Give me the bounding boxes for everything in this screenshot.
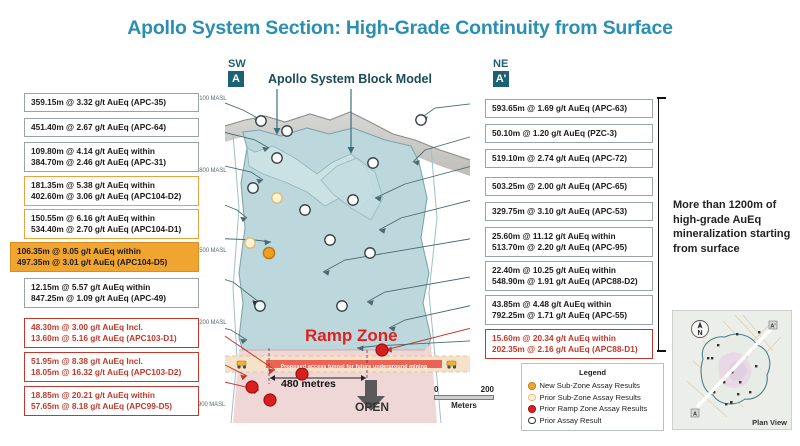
callout-apc-31[interactable]: 109.80m @ 4.14 g/t AuEq within384.70m @ …: [24, 142, 199, 172]
ne-label: NE: [493, 58, 508, 70]
scale-unit: Meters: [434, 401, 494, 410]
legend-dot-prior-assay: [528, 417, 536, 425]
plan-marker-a: A: [691, 409, 699, 418]
assay-marker-prior: [272, 153, 282, 163]
callout-apc-65[interactable]: 503.25m @ 2.00 g/t AuEq (APC-65): [485, 177, 653, 196]
assay-marker-prior: [300, 205, 310, 215]
legend-item-new-subzone: New Sub-Zone Assay Results: [528, 380, 657, 392]
elevation-label-900: 900 MASL: [198, 402, 225, 408]
callout-apc-63[interactable]: 593.65m @ 1.69 g/t AuEq (APC-63): [485, 99, 653, 118]
assay-marker-prior: [255, 301, 265, 311]
callout-apc-64[interactable]: 451.40m @ 2.67 g/t AuEq (APC-64): [24, 118, 199, 137]
svg-text:A': A': [770, 324, 776, 330]
plan-compass-icon: N: [692, 321, 709, 338]
distance-label: 480 metres: [281, 378, 336, 390]
assay-marker-prior: [282, 126, 292, 136]
tunnel-label: Proposed access tunnel for future underg…: [266, 364, 442, 370]
callout-pzc-3[interactable]: 50.10m @ 1.20 g/t AuEq (PZC-3): [485, 124, 653, 143]
callout-apc103-d1[interactable]: 48.30m @ 3.00 g/t AuEq Incl.13.60m @ 5.1…: [24, 318, 199, 348]
callout-apc-95[interactable]: 25.60m @ 11.12 g/t AuEq within513.70m @ …: [485, 227, 653, 257]
assay-marker-prior: [337, 301, 347, 311]
svg-text:A: A: [693, 412, 697, 418]
plan-marker-a-prime: A': [769, 321, 777, 330]
callout-apc88-d1[interactable]: 15.60m @ 20.34 g/t AuEq within202.35m @ …: [485, 329, 653, 359]
plan-view-inset[interactable]: N A' A Plan View: [672, 310, 792, 430]
assay-marker-prior: [248, 183, 258, 193]
callout-apc99-d5[interactable]: 18.85m @ 20.21 g/t AuEq within57.65m @ 8…: [24, 386, 199, 416]
block-model-label: Apollo System Block Model: [268, 72, 432, 86]
assay-marker-prior: [325, 235, 335, 245]
callout-apc88-d2[interactable]: 22.40m @ 10.25 g/t AuEq within548.90m @ …: [485, 261, 653, 291]
callout-apc104-d2[interactable]: 181.35m @ 5.38 g/t AuEq within402.60m @ …: [24, 176, 199, 206]
mineralization-annotation: More than 1200m of high-grade AuEq miner…: [673, 198, 795, 256]
callout-apc-35[interactable]: 359.15m @ 3.32 g/t AuEq (APC-35): [24, 93, 199, 112]
section-figure: Apollo System Section: High-Grade Contin…: [0, 0, 800, 446]
elevation-label-2100: 2100 MASL: [196, 96, 226, 102]
legend-title: Legend: [528, 368, 657, 377]
callout-apc-55[interactable]: 43.85m @ 4.48 g/t AuEq within792.25m @ 1…: [485, 295, 653, 325]
legend-dot-new-subzone: [528, 382, 536, 390]
assay-marker-prior: [348, 195, 358, 205]
elevation-label-1500: 1500 MASL: [196, 248, 226, 254]
callout-apc104-d1[interactable]: 150.55m @ 6.16 g/t AuEq within534.40m @ …: [24, 209, 199, 239]
assay-marker-prior: [256, 116, 266, 126]
callout-apc-53[interactable]: 329.75m @ 3.10 g/t AuEq (APC-53): [485, 202, 653, 221]
plan-view-svg: N A' A: [673, 311, 791, 429]
scale-bar: 0 200 Meters: [434, 385, 494, 410]
legend-dot-prior-subzone: [528, 394, 536, 402]
page-title: Apollo System Section: High-Grade Contin…: [0, 17, 800, 40]
elevation-label-1200: 1200 MASL: [196, 320, 226, 326]
blockmodel-pointer-left: [274, 89, 281, 135]
ne-marker: A': [493, 71, 509, 87]
sw-label: SW: [228, 58, 246, 70]
assay-marker-prior: [365, 248, 375, 258]
scale-min: 0: [434, 385, 438, 394]
assay-marker-ramp: [246, 381, 258, 393]
section-svg: [225, 88, 470, 423]
legend-item-prior-ramp: Prior Ramp Zone Assay Results: [528, 403, 657, 415]
assay-marker-new-subzone: [263, 247, 274, 258]
sw-marker: A: [228, 71, 244, 87]
scale-track: [434, 395, 494, 400]
scale-max: 200: [481, 385, 494, 394]
callout-apc104-d5[interactable]: 106.35m @ 9.05 g/t AuEq within497.35m @ …: [10, 242, 199, 272]
open-label: OPEN: [355, 400, 389, 414]
assay-marker-prior-subzone: [272, 193, 282, 203]
legend: Legend New Sub-Zone Assay Results Prior …: [521, 363, 664, 431]
legend-item-prior-assay: Prior Assay Result: [528, 415, 657, 427]
ramp-zone-label: Ramp Zone: [305, 326, 398, 346]
assay-marker-prior: [368, 158, 378, 168]
elevation-label-1800: 1800 MASL: [196, 168, 226, 174]
cross-section-diagram: [225, 88, 470, 423]
callout-apc-72[interactable]: 519.10m @ 2.74 g/t AuEq (APC-72): [485, 149, 653, 168]
compass-n: N: [697, 330, 702, 337]
legend-dot-prior-ramp: [528, 405, 536, 413]
callout-apc103-d2[interactable]: 51.95m @ 8.38 g/t AuEq Incl.18.05m @ 16.…: [24, 352, 199, 382]
callout-apc-49[interactable]: 12.15m @ 5.57 g/t AuEq within847.25m @ 1…: [24, 278, 199, 308]
assay-marker-prior-subzone: [245, 238, 255, 248]
assay-marker-prior: [416, 115, 426, 125]
plan-view-label: Plan View: [752, 418, 787, 427]
extent-bracket: [658, 97, 668, 352]
legend-item-prior-subzone: Prior Sub-Zone Assay Results: [528, 392, 657, 404]
assay-marker-ramp: [264, 394, 276, 406]
